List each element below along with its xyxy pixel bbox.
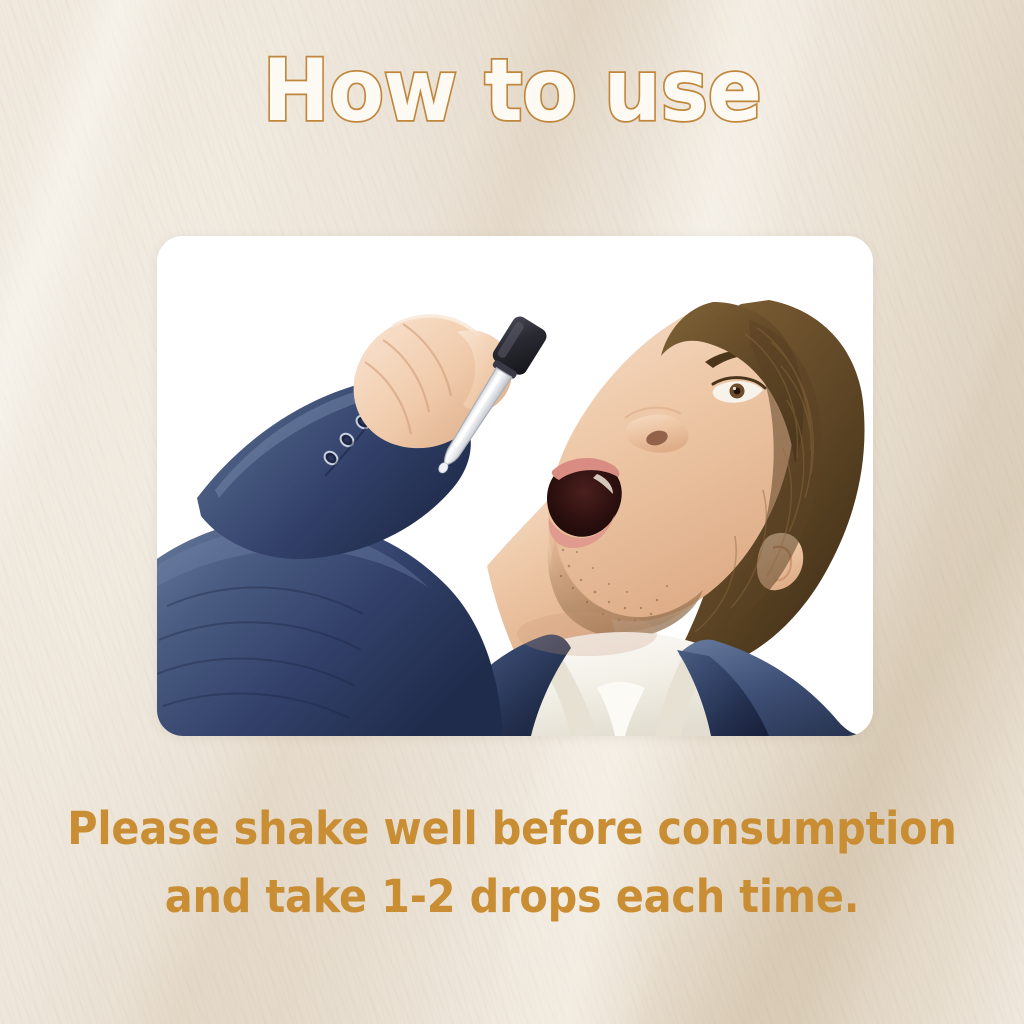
instruction-caption: Please shake well before consumption and… (41, 795, 983, 932)
page-title: How to use (36, 48, 988, 134)
photo-illustration (157, 236, 873, 736)
photo-card (157, 236, 873, 736)
product-usage-photo (157, 236, 873, 736)
caption-line-2: and take 1-2 drops each time. (41, 863, 983, 931)
eye-highlight (733, 387, 736, 390)
caption-line-1: Please shake well before consumption (41, 795, 983, 863)
poster-canvas: How to use (0, 0, 1024, 1024)
chin-shadow (517, 612, 657, 656)
